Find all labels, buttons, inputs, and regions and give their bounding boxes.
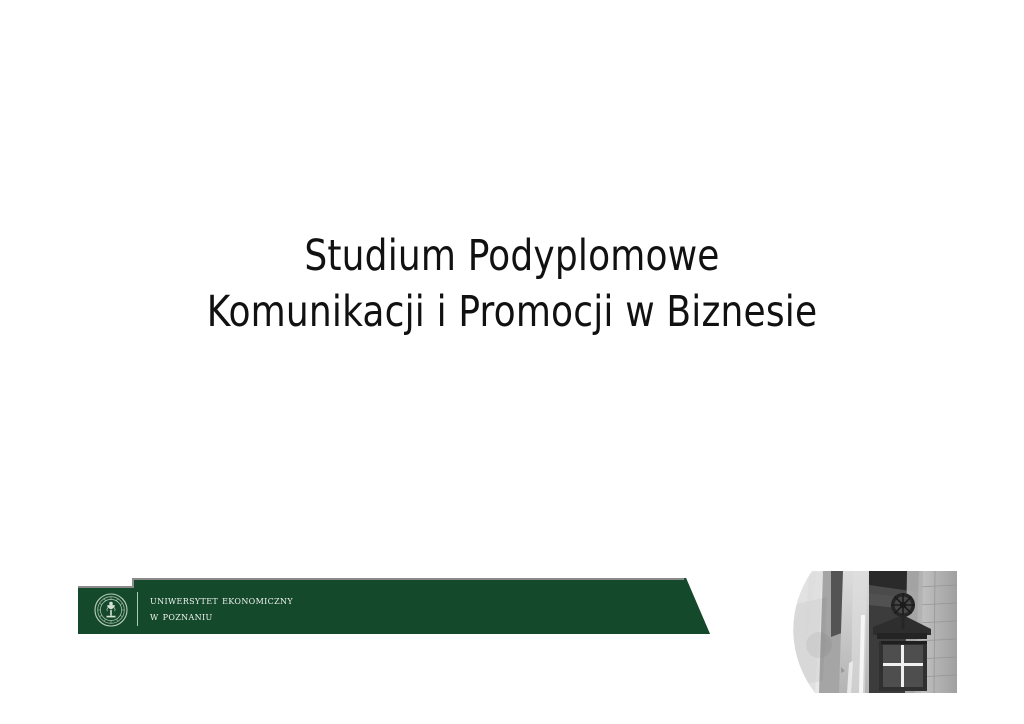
- logo-wordmark: Uniwersytet Ekonomiczny w Poznaniu: [150, 592, 470, 624]
- campus-architecture-photo: [757, 571, 957, 693]
- slide-canvas: Studium Podyplomowe Komunikacji i Promoc…: [0, 0, 1024, 724]
- page-title: Studium Podyplomowe Komunikacji i Promoc…: [0, 228, 1024, 340]
- title-line-2: Komunikacji i Promocji w Biznesie: [36, 284, 988, 340]
- logo-divider: [137, 592, 138, 626]
- logo-line-2: w Poznaniu: [150, 608, 470, 624]
- footer-banner: Uniwersytet Ekonomiczny w Poznaniu: [78, 578, 718, 635]
- university-seal-emblem: [94, 593, 128, 627]
- title-line-1: Studium Podyplomowe: [36, 228, 988, 284]
- logo-line-1: Uniwersytet Ekonomiczny: [150, 592, 470, 608]
